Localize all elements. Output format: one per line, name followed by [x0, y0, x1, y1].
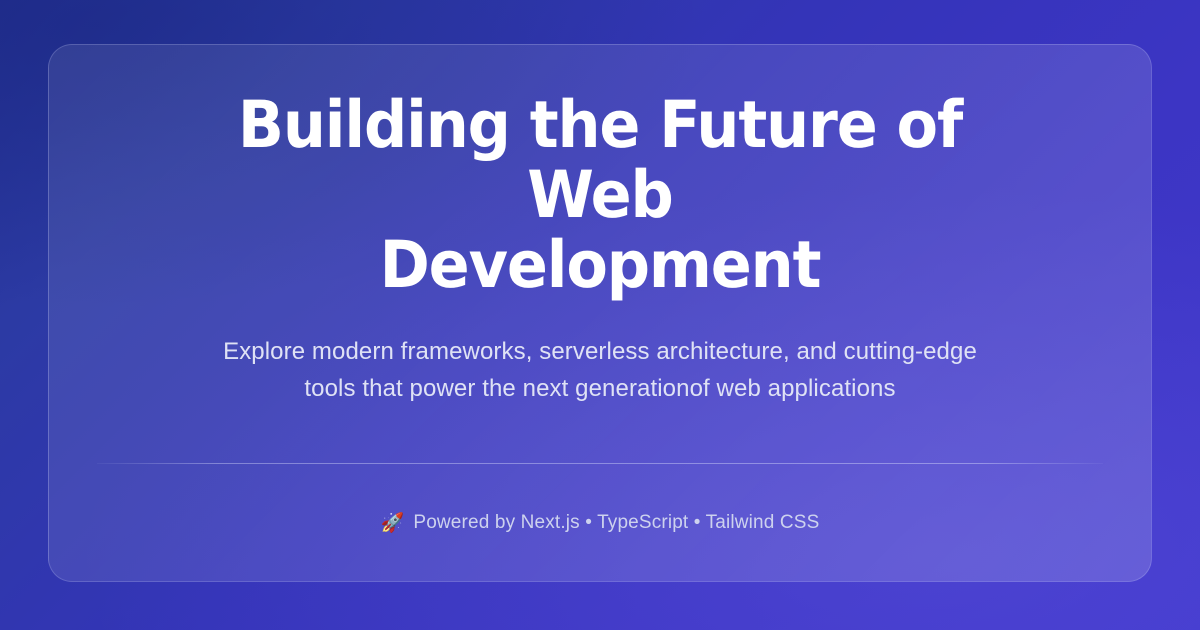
page-title-line-1: Building the Future of Web — [191, 91, 1009, 231]
page-subtitle-line-2: tools that power the next generationof w… — [160, 370, 1040, 407]
footer-credits-label: Powered by Next.js • TypeScript • Tailwi… — [413, 512, 819, 534]
footer-credits: 🚀 Powered by Next.js • TypeScript • Tail… — [381, 464, 820, 581]
page-subtitle-line-1: Explore modern frameworks, serverless ar… — [160, 333, 1040, 370]
rocket-icon: 🚀 — [381, 514, 405, 533]
page-title: Building the Future of Web Development — [191, 91, 1009, 301]
page-subtitle: Explore modern frameworks, serverless ar… — [160, 333, 1040, 407]
page-title-line-2: Development — [191, 231, 1009, 301]
og-image-canvas: Building the Future of Web Development E… — [0, 0, 1200, 630]
hero-card: Building the Future of Web Development E… — [48, 44, 1152, 582]
